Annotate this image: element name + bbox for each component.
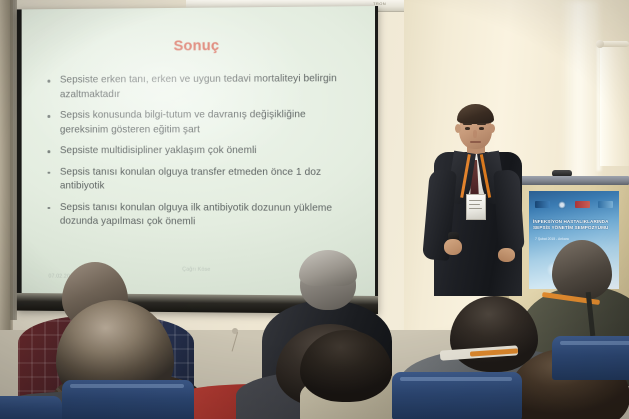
chair-highlight — [560, 341, 629, 345]
audience-hair — [299, 250, 357, 286]
chair-highlight — [400, 377, 512, 381]
audience-head — [450, 296, 538, 372]
auditorium-chair — [0, 396, 62, 419]
presentation-photo-scene: TRON Sonuç Sepsiste erken tanı, erken ve… — [0, 0, 629, 419]
audience-area — [0, 0, 629, 419]
chair-highlight — [70, 384, 184, 388]
audience-head — [552, 240, 612, 300]
